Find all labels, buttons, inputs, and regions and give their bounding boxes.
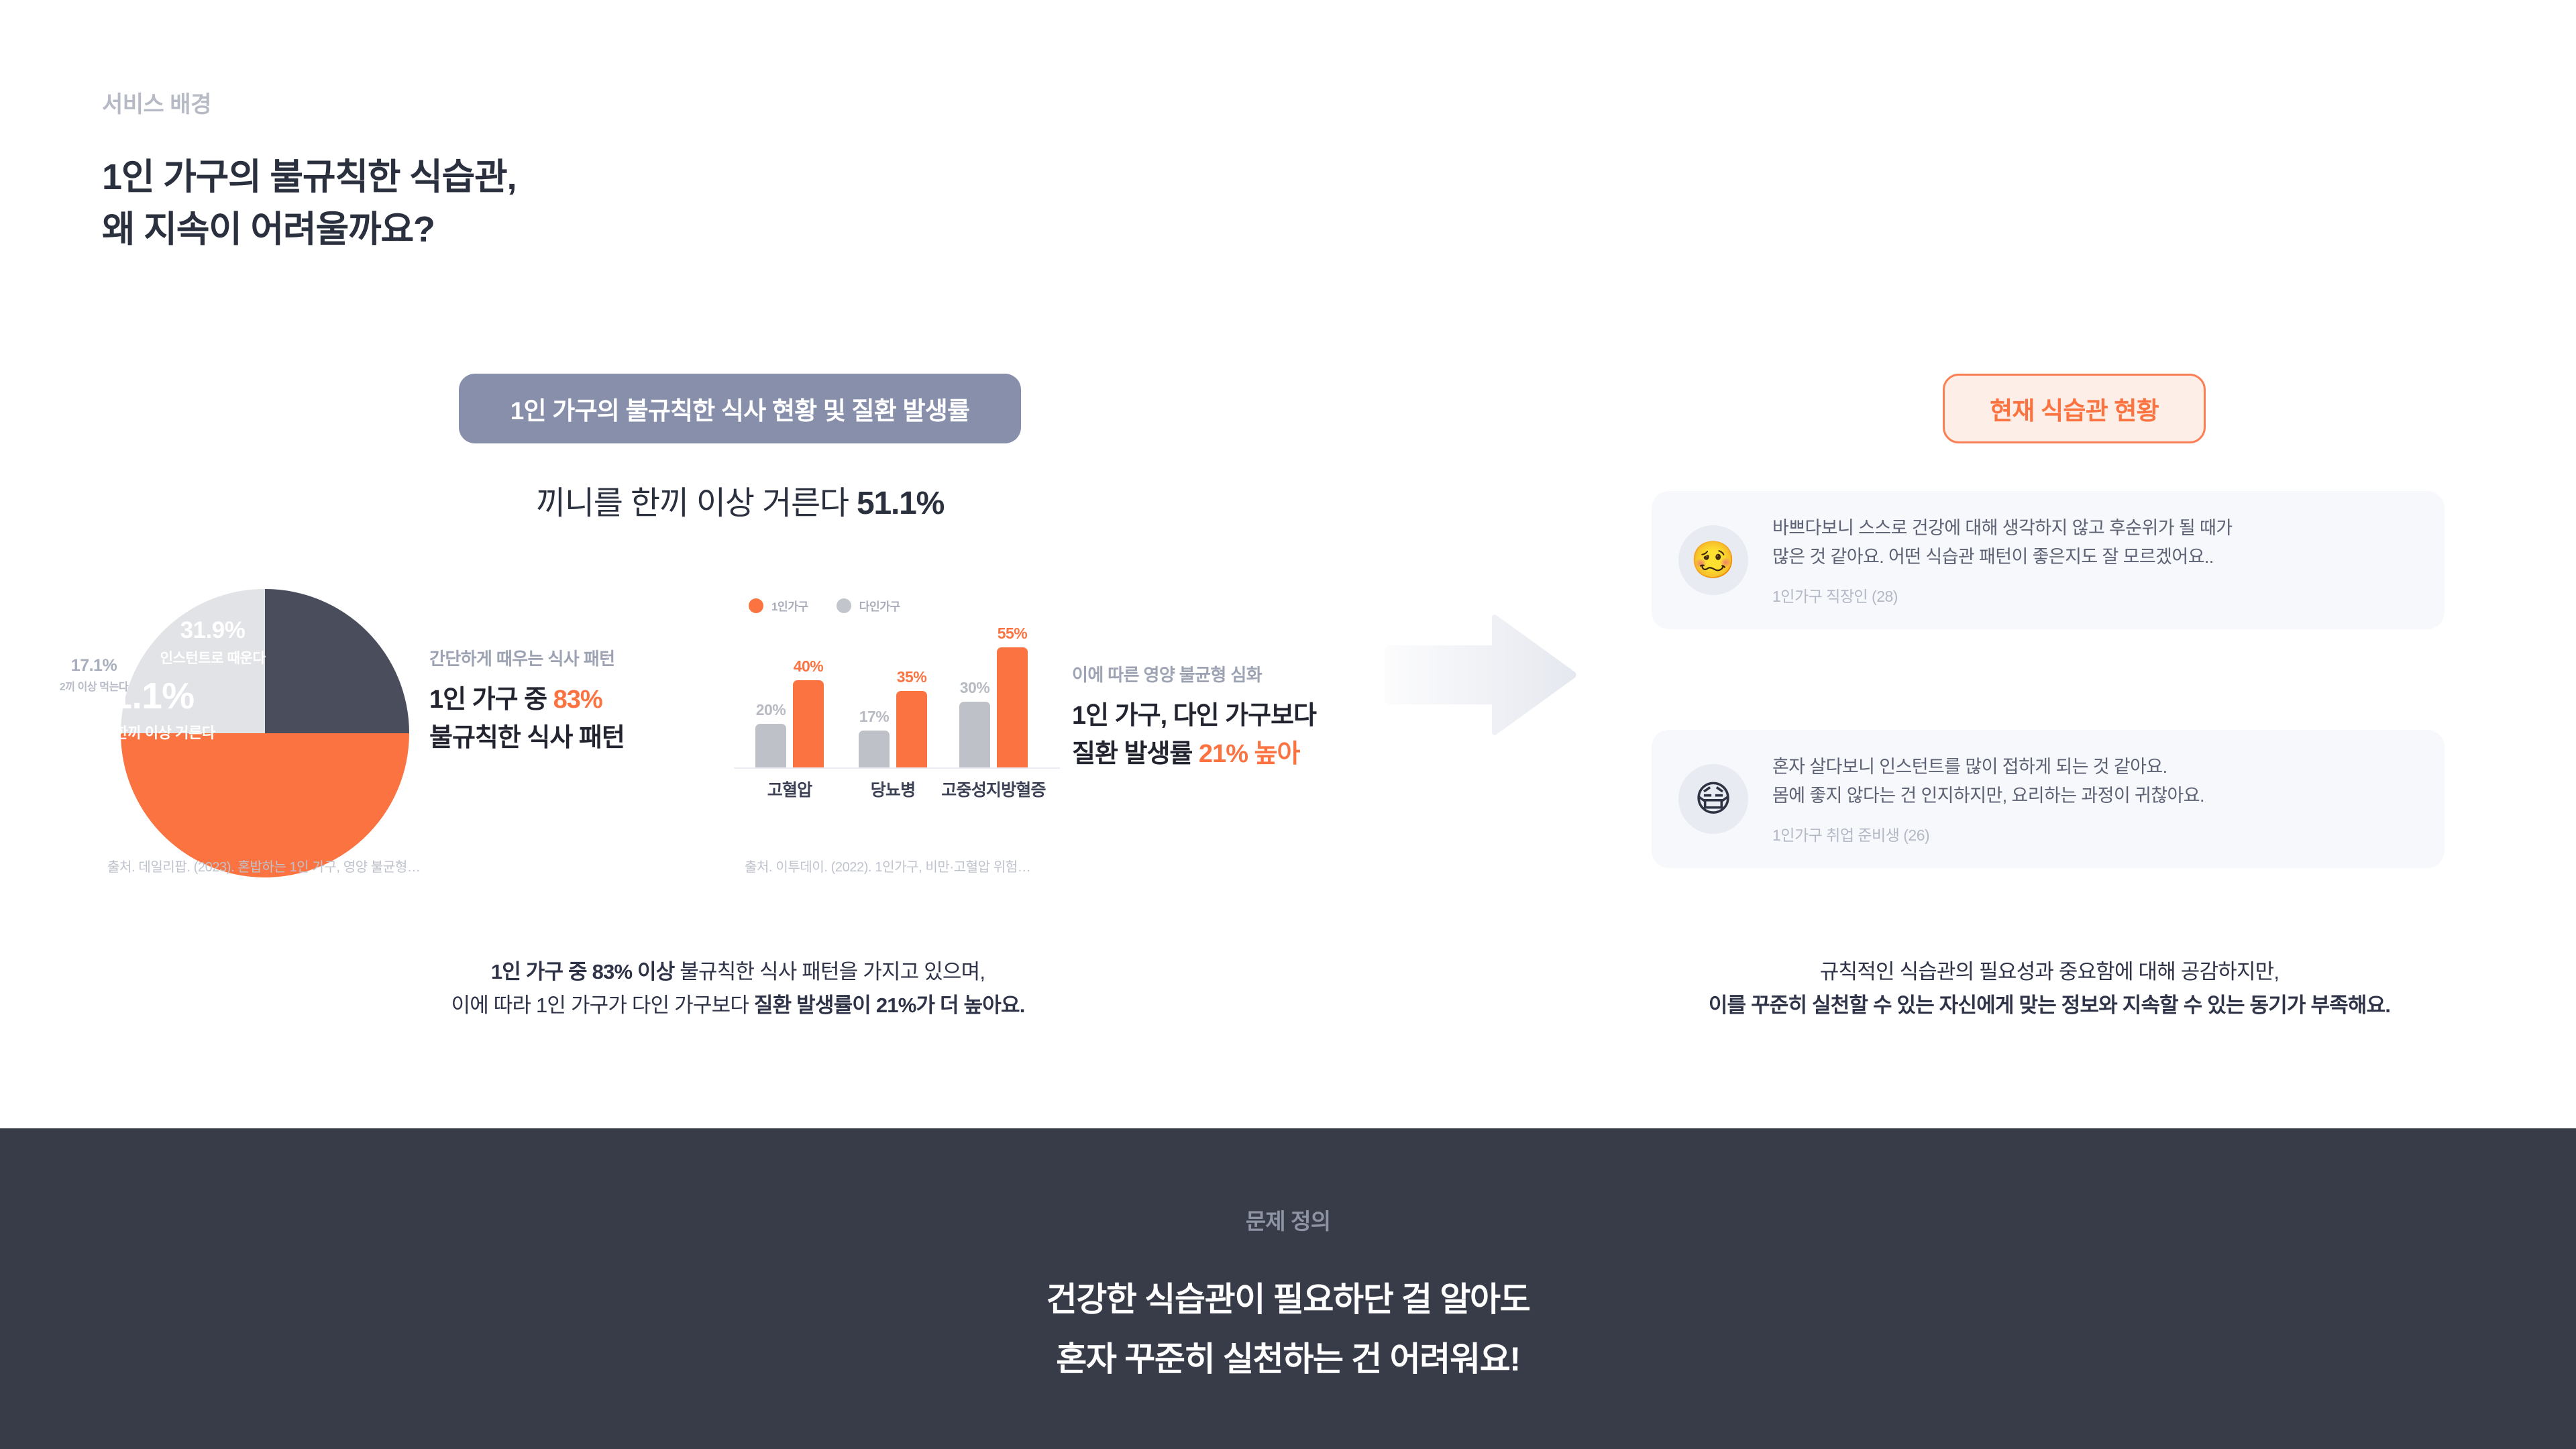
bar-value-single-hypertension: 40% <box>794 657 824 676</box>
pie-side-statement: 1인 가구 중 83% 불규칙한 식사 패턴 <box>429 681 684 757</box>
source-note-bar: 출처. 이투데이. (2022). 1인가구, 비만·고혈압 위험… <box>745 856 1030 875</box>
pie-chart-title-text: 끼니를 한끼 이상 거른다 <box>536 486 857 521</box>
bar-multi-diabetes: 17% <box>859 731 890 767</box>
pie-side-line-1-prefix: 1인 가구 중 <box>429 686 553 714</box>
bar-value-multi-diabetes: 17% <box>859 708 890 726</box>
pie-chart-title: 끼니를 한끼 이상 거른다 51.1% <box>459 476 1021 523</box>
avatar: 🥴 <box>1678 525 1748 595</box>
footer-eyebrow: 문제 정의 <box>1246 1203 1331 1236</box>
pie-chart-svg <box>121 589 409 877</box>
bar-chart-legend: 1인가구 다인가구 <box>731 597 1060 614</box>
bar-value-multi-hypertension: 20% <box>756 701 786 719</box>
pie-chart-title-value: 51.1% <box>857 486 944 521</box>
bar-value-multi-hypertriglyceridemia: 30% <box>960 679 990 697</box>
testimonial-card: 😷 혼자 살다보니 인스턴트를 많이 접하게 되는 것 같아요. 몸에 좋지 않… <box>1652 730 2445 868</box>
testimonial-quote: 바쁘다보니 스스로 건강에 대해 생각하지 않고 후순위가 될 때가 많은 것 … <box>1772 514 2232 571</box>
bar-side-line-2-prefix: 질환 발생률 <box>1072 740 1199 768</box>
pie-slice-instant <box>265 589 409 733</box>
problem-definition-section: 문제 정의 건강한 식습관이 필요하단 걸 알아도 혼자 꾸준히 실천하는 건 … <box>0 1128 2576 1449</box>
pie-side-line-1: 1인 가구 중 83% <box>429 681 684 719</box>
bar-chart: 1인가구 다인가구 20% 40% 17% 35% 30% <box>731 597 1060 805</box>
legend-item-single-household: 1인가구 <box>749 597 808 614</box>
testimonial-body: 혼자 살다보니 인스턴트를 많이 접하게 되는 것 같아요. 몸에 좋지 않다는… <box>1772 753 2204 845</box>
pie-side-line-1-accent: 83% <box>553 686 602 714</box>
testimonial-quote-line-2: 몸에 좋지 않다는 건 인지하지만, 요리하는 과정이 귀찮아요. <box>1772 782 2204 810</box>
bar-group-hypertriglyceridemia: 30% 55% <box>959 647 1028 767</box>
bar-side-text: 이에 따른 영양 불균형 심화 1인 가구, 다인 가구보다 질환 발생률 21… <box>1072 661 1354 773</box>
bar-single-hypertension: 40% <box>793 680 824 767</box>
section-eyebrow: 서비스 배경 <box>102 86 516 119</box>
testimonial-quote-line-1: 혼자 살다보니 인스턴트를 많이 접하게 되는 것 같아요. <box>1772 753 2204 782</box>
left-panel-summary-line-2: 이에 따라 1인 가구가 다인 가구보다 질환 발생률이 21%가 더 높아요. <box>362 989 1114 1022</box>
bar-side-statement: 1인 가구, 다인 가구보다 질환 발생률 21% 높아 <box>1072 697 1354 773</box>
left-panel-badge: 1인 가구의 불규칙한 식사 현황 및 질환 발생률 <box>459 374 1021 443</box>
right-panel-summary-line-2: 이를 꾸준히 실천할 수 있는 자신에게 맞는 정보와 지속할 수 있는 동기가… <box>1637 989 2462 1022</box>
right-panel-badge-label: 현재 식습관 현황 <box>1990 390 2159 427</box>
flow-arrow-right-icon <box>1383 614 1578 735</box>
pie-side-text: 간단하게 때우는 식사 패턴 1인 가구 중 83% 불규칙한 식사 패턴 <box>429 645 684 757</box>
bar-group-hypertension: 20% 40% <box>755 680 824 767</box>
right-panel-summary-bold: 이를 꾸준히 실천할 수 있는 자신에게 맞는 정보와 지속할 수 있는 동기가… <box>1709 994 2390 1017</box>
woozy-face-emoji: 🥴 <box>1690 542 1735 578</box>
page-title: 1인 가구의 불규칙한 식습관, 왜 지속이 어려울까요? <box>102 151 516 256</box>
legend-label-single-household: 1인가구 <box>771 597 808 614</box>
bar-x-label-hypertriglyceridemia: 고중성지방혈증 <box>941 777 1045 801</box>
bar-side-line-2: 질환 발생률 21% 높아 <box>1072 735 1354 773</box>
bar-side-line-1: 1인 가구, 다인 가구보다 <box>1072 697 1354 735</box>
legend-item-multi-household: 다인가구 <box>837 597 900 614</box>
page-header: 서비스 배경 1인 가구의 불규칙한 식습관, 왜 지속이 어려울까요? <box>102 86 516 256</box>
right-panel-badge: 현재 식습관 현황 <box>1943 374 2206 443</box>
avatar: 😷 <box>1678 764 1748 834</box>
testimonial-author: 1인가구 취업 준비생 (26) <box>1772 822 2204 845</box>
legend-label-multi-household: 다인가구 <box>859 597 900 614</box>
left-panel-summary: 1인 가구 중 83% 이상 불규칙한 식사 패턴을 가지고 있으며, 이에 따… <box>362 955 1114 1022</box>
bar-value-single-hypertriglyceridemia: 55% <box>998 625 1028 643</box>
page-title-line-2: 왜 지속이 어려울까요? <box>102 203 516 256</box>
left-panel-summary-rest-1: 불규칙한 식사 패턴을 가지고 있으며, <box>674 960 985 983</box>
bar-chart-plot: 20% 40% 17% 35% 30% 55% <box>731 639 1060 769</box>
testimonial-card: 🥴 바쁘다보니 스스로 건강에 대해 생각하지 않고 후순위가 될 때가 많은 … <box>1652 491 2445 629</box>
pie-side-line-2: 불규칙한 식사 패턴 <box>429 719 684 757</box>
bar-single-diabetes: 35% <box>896 691 927 767</box>
bar-side-kicker: 이에 따른 영양 불균형 심화 <box>1072 661 1354 686</box>
bar-chart-baseline <box>734 767 1060 769</box>
left-panel-summary-line-1: 1인 가구 중 83% 이상 불규칙한 식사 패턴을 가지고 있으며, <box>362 955 1114 989</box>
flow-arrow-shape <box>1385 614 1576 735</box>
footer-line-2: 혼자 꾸준히 실천하는 건 어려워요! <box>1056 1334 1520 1385</box>
bar-single-hypertriglyceridemia: 55% <box>997 647 1028 767</box>
bar-side-line-2-accent: 21% 높아 <box>1199 740 1300 768</box>
bar-chart-x-labels: 고혈압 당뇨병 고중성지방혈증 <box>731 777 1060 804</box>
legend-dot-icon-orange <box>749 598 763 613</box>
left-panel-summary-rest-2: 이에 따라 1인 가구가 다인 가구보다 <box>451 994 753 1017</box>
bar-x-label-hypertension: 고혈압 <box>767 777 812 801</box>
source-note-pie: 출처. 데일리팝. (2023). 혼밥하는 1인 가구, 영양 불균형… <box>107 856 420 875</box>
bar-multi-hypertension: 20% <box>755 724 786 767</box>
right-panel-summary: 규칙적인 식습관의 필요성과 중요함에 대해 공감하지만, 이를 꾸준히 실천할… <box>1637 955 2462 1022</box>
testimonial-quote-line-2: 많은 것 같아요. 어떤 식습관 패턴이 좋은지도 잘 모르겠어요.. <box>1772 543 2232 572</box>
left-panel-summary-bold-1: 1인 가구 중 83% 이상 <box>491 960 675 983</box>
left-panel-badge-label: 1인 가구의 불규칙한 식사 현황 및 질환 발생률 <box>511 390 969 427</box>
right-panel-summary-line-1: 규칙적인 식습관의 필요성과 중요함에 대해 공감하지만, <box>1637 955 2462 989</box>
testimonial-quote: 혼자 살다보니 인스턴트를 많이 접하게 되는 것 같아요. 몸에 좋지 않다는… <box>1772 753 2204 810</box>
bar-multi-hypertriglyceridemia: 30% <box>959 702 990 767</box>
page-title-line-1: 1인 가구의 불규칙한 식습관, <box>102 151 516 203</box>
bar-x-label-diabetes: 당뇨병 <box>871 777 916 801</box>
testimonial-quote-line-1: 바쁘다보니 스스로 건강에 대해 생각하지 않고 후순위가 될 때가 <box>1772 514 2232 543</box>
pie-side-kicker: 간단하게 때우는 식사 패턴 <box>429 645 684 670</box>
legend-dot-icon-grey <box>837 598 851 613</box>
footer-line-1: 건강한 식습관이 필요하단 걸 알아도 <box>1046 1275 1530 1325</box>
flow-arrow-svg <box>1383 614 1578 735</box>
bar-group-diabetes: 17% 35% <box>859 691 927 767</box>
testimonial-body: 바쁘다보니 스스로 건강에 대해 생각하지 않고 후순위가 될 때가 많은 것 … <box>1772 514 2232 606</box>
masked-face-emoji: 😷 <box>1695 781 1732 817</box>
left-panel-summary-bold-2: 질환 발생률이 21%가 더 높아요. <box>754 994 1025 1017</box>
testimonial-author: 1인가구 직장인 (28) <box>1772 584 2232 606</box>
bar-value-single-diabetes: 35% <box>897 668 927 686</box>
pie-chart <box>121 589 409 877</box>
